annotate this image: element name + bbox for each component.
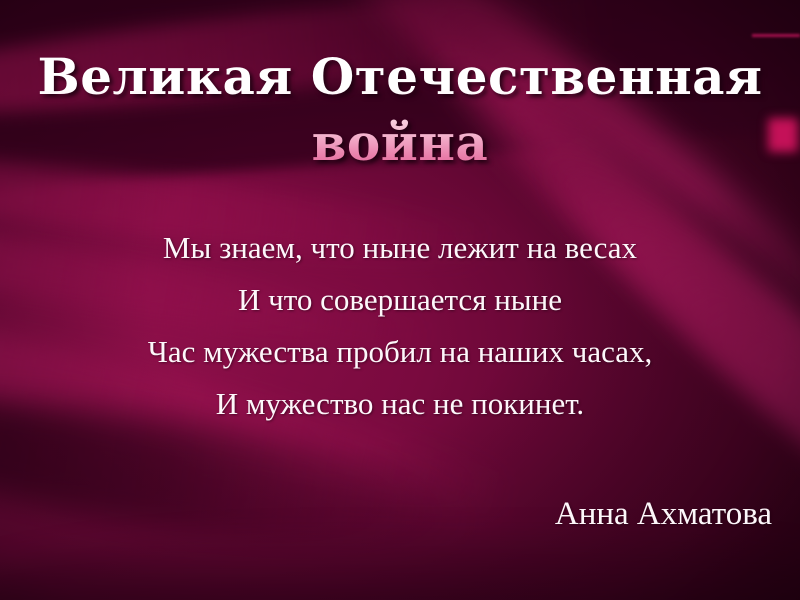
poem-block: Мы знаем, что ныне лежит на весах И что …	[0, 222, 800, 430]
slide-content: Великая Отечественная война Мы знаем, чт…	[0, 0, 800, 600]
presentation-slide: Великая Отечественная война Мы знаем, чт…	[0, 0, 800, 600]
poem-line: Мы знаем, что ныне лежит на весах	[0, 222, 800, 274]
poem-author: Анна Ахматова	[555, 492, 772, 536]
poem-line: И что совершается ныне	[0, 274, 800, 326]
poem-line: И мужество нас не покинет.	[0, 378, 800, 430]
slide-title: Великая Отечественная война	[0, 44, 800, 176]
poem-line: Час мужества пробил на наших часах,	[0, 326, 800, 378]
